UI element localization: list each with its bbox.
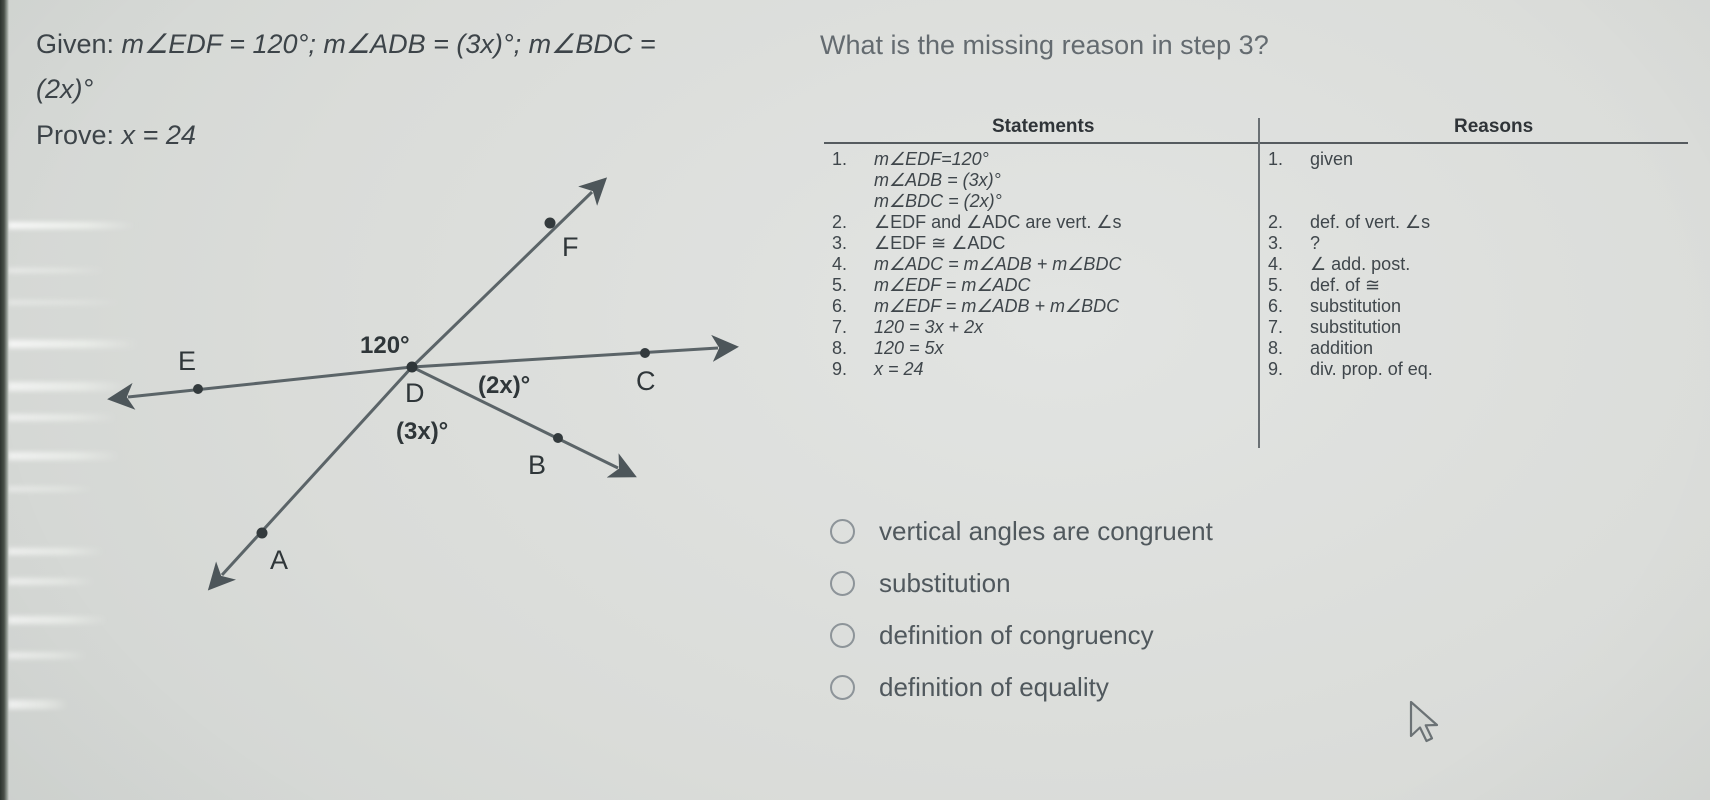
row-reason: div. prop. of eq. bbox=[1310, 359, 1433, 380]
answer-option-4[interactable]: definition of equality bbox=[822, 661, 1522, 713]
answer-option-label: vertical angles are congruent bbox=[879, 516, 1213, 547]
answer-option-2[interactable]: substitution bbox=[822, 557, 1522, 609]
prove-label: Prove: bbox=[36, 120, 122, 150]
label-point-F: F bbox=[562, 232, 579, 263]
table-row: 3. ∠EDF ≅ ∠ADC 3. ? bbox=[824, 233, 1690, 254]
row-number: 4. bbox=[832, 254, 847, 275]
given-line-2: (2x)° bbox=[36, 67, 756, 112]
table-row: m∠BDC = (2x)° bbox=[824, 191, 1690, 212]
row-reason-missing: ? bbox=[1310, 233, 1320, 254]
radio-button-icon[interactable] bbox=[830, 571, 855, 596]
given-prove-block: Given: m∠EDF = 120°; m∠ADB = (3x)°; m∠BD… bbox=[36, 22, 756, 158]
point-D bbox=[407, 362, 418, 373]
row-statement: m∠ADC = m∠ADB + m∠BDC bbox=[874, 254, 1121, 275]
point-B bbox=[553, 433, 563, 443]
table-row: 2. ∠EDF and ∠ADC are vert. ∠s 2. def. of… bbox=[824, 212, 1690, 233]
table-row: 5. m∠EDF = m∠ADC 5. def. of ≅ bbox=[824, 275, 1690, 296]
table-row: 8. 120 = 5x 8. addition bbox=[824, 338, 1690, 359]
proof-rows: 1. m∠EDF=120° 1. given m∠ADB = (3x)° m∠B… bbox=[824, 149, 1690, 380]
label-point-D: D bbox=[405, 378, 425, 409]
geometry-diagram: E C F A B D 120° (2x)° (3x)° bbox=[70, 150, 770, 640]
table-row: 4. m∠ADC = m∠ADB + m∠BDC 4. ∠ add. post. bbox=[824, 254, 1690, 275]
column-header-reasons: Reasons bbox=[1454, 116, 1533, 138]
answer-option-1[interactable]: vertical angles are congruent bbox=[822, 505, 1522, 557]
header-rule bbox=[824, 142, 1688, 144]
row-number: 9. bbox=[832, 359, 847, 380]
label-point-E: E bbox=[178, 346, 196, 377]
row-reason-number: 6. bbox=[1268, 296, 1283, 317]
point-A bbox=[257, 528, 268, 539]
row-reason-number: 3. bbox=[1268, 233, 1283, 254]
row-reason: given bbox=[1310, 149, 1353, 170]
answer-option-label: substitution bbox=[879, 568, 1011, 599]
row-reason: def. of vert. ∠s bbox=[1310, 212, 1430, 233]
proof-table-header: Statements Reasons bbox=[824, 116, 1690, 142]
table-row: 1. m∠EDF=120° 1. given bbox=[824, 149, 1690, 170]
row-reason-number: 8. bbox=[1268, 338, 1283, 359]
row-statement: ∠EDF ≅ ∠ADC bbox=[874, 233, 1005, 254]
radio-button-icon[interactable] bbox=[830, 675, 855, 700]
given-line-1: Given: m∠EDF = 120°; m∠ADB = (3x)°; m∠BD… bbox=[36, 22, 756, 67]
row-number: 5. bbox=[832, 275, 847, 296]
row-statement: ∠EDF and ∠ADC are vert. ∠s bbox=[874, 212, 1121, 233]
row-reason-number: 2. bbox=[1268, 212, 1283, 233]
label-point-C: C bbox=[636, 366, 656, 397]
radio-button-icon[interactable] bbox=[830, 519, 855, 544]
row-number: 1. bbox=[832, 149, 847, 170]
two-column-proof-table: Statements Reasons 1. m∠EDF=120° 1. give… bbox=[824, 116, 1690, 380]
row-reason-number: 5. bbox=[1268, 275, 1283, 296]
table-row: 7. 120 = 3x + 2x 7. substitution bbox=[824, 317, 1690, 338]
row-number: 6. bbox=[832, 296, 847, 317]
row-number: 3. bbox=[832, 233, 847, 254]
row-statement: m∠EDF=120° bbox=[874, 149, 989, 170]
row-number: 7. bbox=[832, 317, 847, 338]
label-point-B: B bbox=[528, 450, 546, 481]
column-header-statements: Statements bbox=[992, 116, 1094, 138]
table-row: 9. x = 24 9. div. prop. of eq. bbox=[824, 359, 1690, 380]
label-angle-120: 120° bbox=[360, 332, 410, 360]
row-statement: m∠EDF = m∠ADC bbox=[874, 275, 1030, 296]
answer-option-label: definition of congruency bbox=[879, 620, 1154, 651]
answer-option-label: definition of equality bbox=[879, 672, 1109, 703]
row-number: 8. bbox=[832, 338, 847, 359]
ray-DC bbox=[412, 348, 718, 367]
point-F bbox=[545, 218, 556, 229]
ray-DA bbox=[222, 367, 412, 575]
row-statement: x = 24 bbox=[874, 359, 924, 380]
row-reason: substitution bbox=[1310, 317, 1401, 338]
row-statement: m∠BDC = (2x)° bbox=[874, 191, 1002, 212]
row-statement: 120 = 3x + 2x bbox=[874, 317, 983, 338]
ray-DE bbox=[128, 367, 412, 397]
radio-button-icon[interactable] bbox=[830, 623, 855, 648]
question-prompt: What is the missing reason in step 3? bbox=[820, 30, 1269, 61]
row-reason: addition bbox=[1310, 338, 1373, 359]
ray-DF bbox=[412, 192, 592, 367]
row-statement: 120 = 5x bbox=[874, 338, 944, 359]
prove-expression: x = 24 bbox=[122, 120, 196, 150]
label-angle-3x: (3x)° bbox=[396, 418, 448, 446]
given-label: Given: bbox=[36, 29, 122, 59]
table-row: m∠ADB = (3x)° bbox=[824, 170, 1690, 191]
row-reason: substitution bbox=[1310, 296, 1401, 317]
table-row: 6. m∠EDF = m∠ADB + m∠BDC 6. substitution bbox=[824, 296, 1690, 317]
answer-options: vertical angles are congruent substituti… bbox=[822, 505, 1522, 713]
answer-option-3[interactable]: definition of congruency bbox=[822, 609, 1522, 661]
row-statement: m∠ADB = (3x)° bbox=[874, 170, 1001, 191]
row-reason-number: 7. bbox=[1268, 317, 1283, 338]
row-reason-number: 1. bbox=[1268, 149, 1283, 170]
row-reason-number: 4. bbox=[1268, 254, 1283, 275]
label-point-A: A bbox=[270, 545, 288, 576]
row-reason-number: 9. bbox=[1268, 359, 1283, 380]
row-number: 2. bbox=[832, 212, 847, 233]
label-angle-2x: (2x)° bbox=[478, 372, 530, 400]
row-statement: m∠EDF = m∠ADB + m∠BDC bbox=[874, 296, 1119, 317]
row-reason: ∠ add. post. bbox=[1310, 254, 1410, 275]
point-E bbox=[193, 384, 203, 394]
row-reason: def. of ≅ bbox=[1310, 275, 1380, 296]
given-expression: m∠EDF = 120°; m∠ADB = (3x)°; m∠BDC = bbox=[122, 29, 656, 59]
point-C bbox=[640, 348, 650, 358]
